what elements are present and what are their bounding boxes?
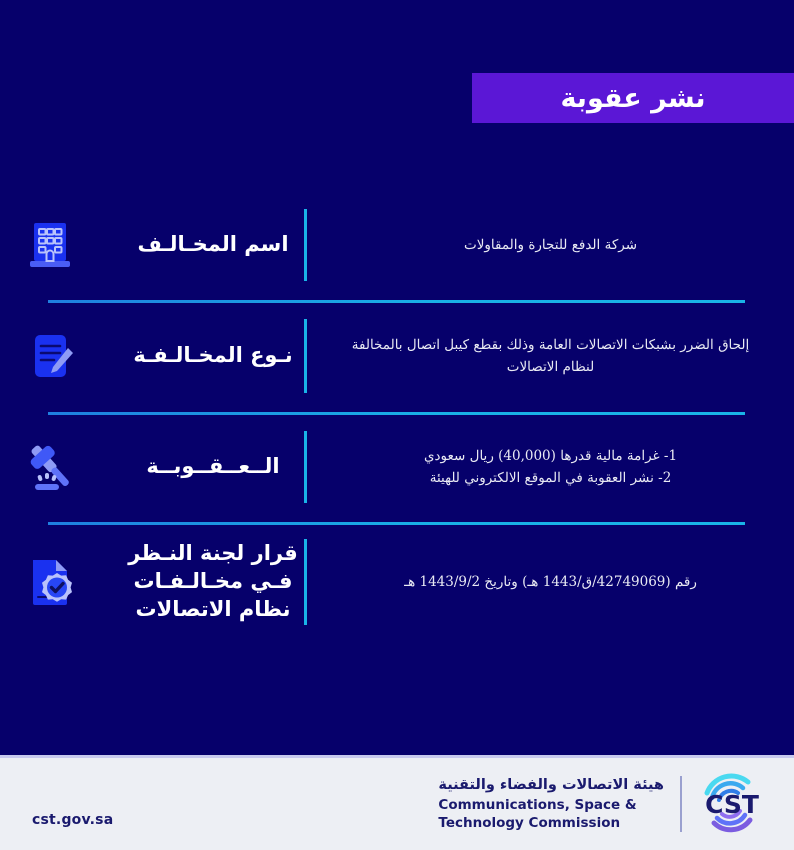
row-label-cell: نـوع المخـالـفـة — [108, 342, 304, 370]
header-banner: نشر عقوبة — [472, 73, 794, 123]
gavel-icon — [23, 440, 77, 494]
table-row: نـوع المخـالـفـة إلحاق الضرر بشبكات الات… — [0, 300, 794, 412]
row-label-cell: قرار لجنة النـظر فـي مخـالـفـات نظام الا… — [108, 540, 304, 623]
banner-title: نشر عقوبة — [560, 85, 705, 112]
org-name-english-line1: Communications, Space & — [438, 796, 664, 814]
document-pen-icon — [24, 330, 76, 382]
cst-logo-mark: CST — [698, 773, 764, 835]
org-name-english-line2: Technology Commission — [438, 814, 664, 832]
building-icon — [24, 219, 76, 271]
vertical-divider — [304, 539, 307, 625]
logo-divider — [680, 776, 682, 832]
row-label: الــعــقــوبــة — [146, 453, 279, 481]
table-row: اسم المخـالـف شركة الدفع للتجارة والمقاو… — [0, 190, 794, 300]
row-value: رقم (42749069/ق/1443 هـ) وتاريخ 1443/9/2… — [404, 571, 697, 593]
website-url[interactable]: cst.gov.sa — [32, 812, 113, 828]
document-check-icon-cell — [0, 555, 100, 609]
row-value-cell: 1- غرامة مالية قدرها (40,000) ريال سعودي… — [307, 445, 794, 490]
building-icon-cell — [0, 219, 100, 271]
table-row: قرار لجنة النـظر فـي مخـالـفـات نظام الا… — [0, 522, 794, 642]
details-list: اسم المخـالـف شركة الدفع للتجارة والمقاو… — [0, 190, 794, 642]
vertical-divider — [304, 209, 307, 281]
table-row: الــعــقــوبــة 1- غرامة مالية قدرها (40… — [0, 412, 794, 522]
org-name-arabic: هيئة الاتصالات والفضاء والتقنية — [438, 776, 664, 796]
row-value: شركة الدفع للتجارة والمقاولات — [464, 234, 637, 256]
row-label: قرار لجنة النـظر فـي مخـالـفـات نظام الا… — [128, 540, 297, 623]
gavel-icon-cell — [0, 440, 100, 494]
penalty-publication-card: نشر عقوبة — [0, 0, 794, 850]
cst-logo: CST هيئة الاتصالات والفضاء والتقنية Comm… — [438, 773, 764, 835]
cst-logo-text: CST — [705, 790, 759, 819]
vertical-divider — [304, 319, 307, 393]
row-label: نـوع المخـالـفـة — [133, 342, 292, 370]
row-value: 1- غرامة مالية قدرها (40,000) ريال سعودي… — [424, 445, 677, 490]
row-value-cell: رقم (42749069/ق/1443 هـ) وتاريخ 1443/9/2… — [307, 571, 794, 593]
row-value-cell: شركة الدفع للتجارة والمقاولات — [307, 234, 794, 256]
row-value-cell: إلحاق الضرر بشبكات الاتصالات العامة وذلك… — [307, 334, 794, 379]
row-value: إلحاق الضرر بشبكات الاتصالات العامة وذلك… — [352, 334, 749, 379]
vertical-divider — [304, 431, 307, 503]
document-pen-icon-cell — [0, 330, 100, 382]
org-name-block: هيئة الاتصالات والفضاء والتقنية Communic… — [438, 776, 664, 832]
cst-arcs-icon: CST — [698, 773, 764, 835]
footer-bar: CST هيئة الاتصالات والفضاء والتقنية Comm… — [0, 755, 794, 850]
row-label-cell: اسم المخـالـف — [108, 231, 304, 259]
row-label: اسم المخـالـف — [137, 231, 288, 259]
document-check-icon — [23, 555, 77, 609]
row-label-cell: الــعــقــوبــة — [108, 453, 304, 481]
